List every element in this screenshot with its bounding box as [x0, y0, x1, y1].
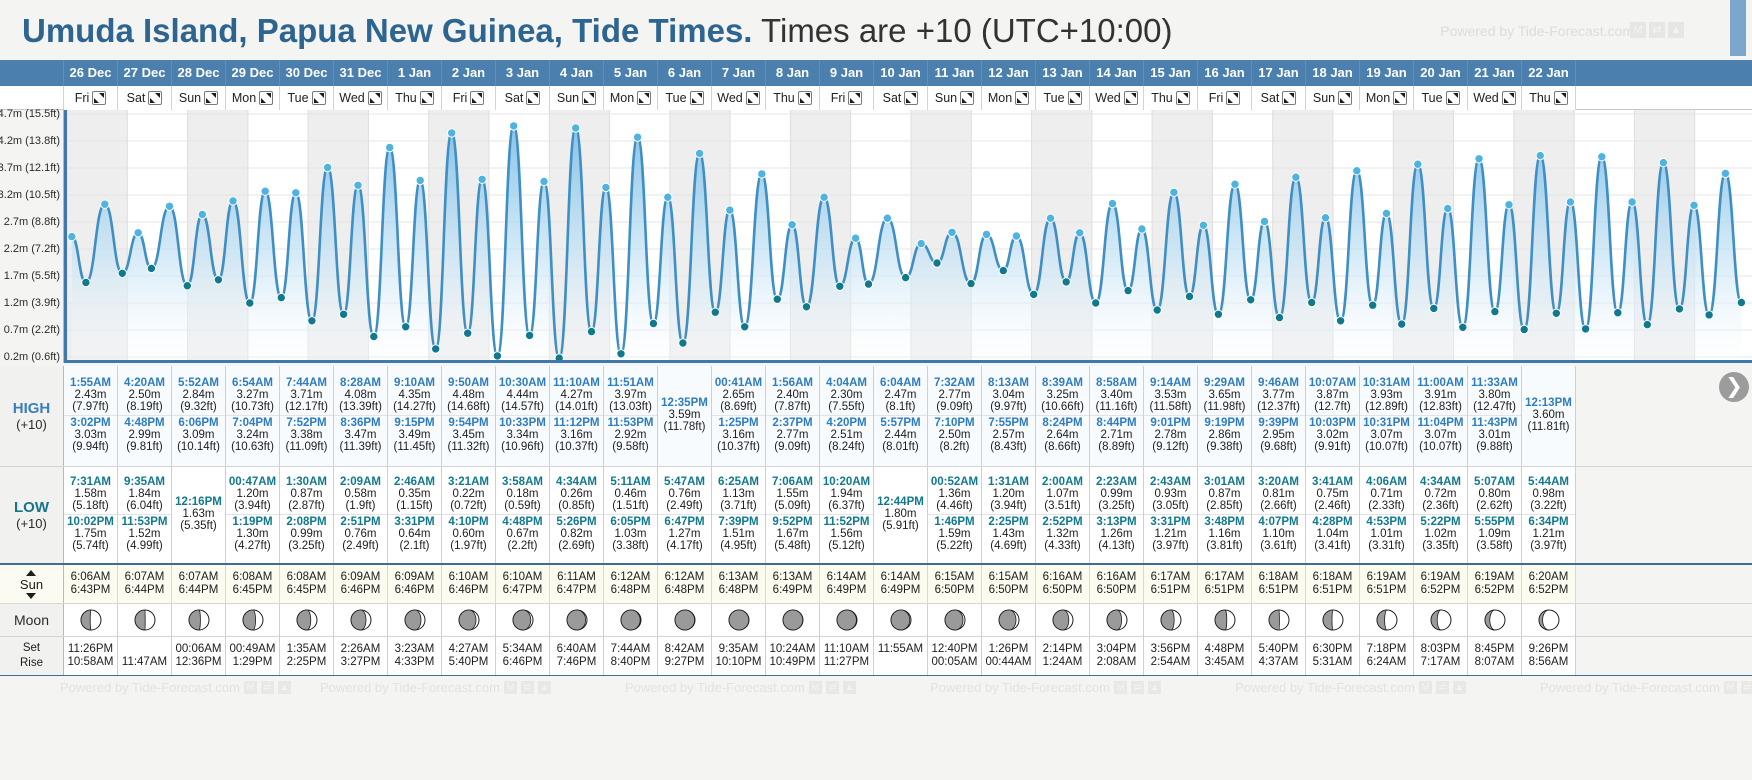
- moon-phase-cell: [1090, 604, 1144, 636]
- date-header-cell[interactable]: 18 Jan: [1306, 60, 1360, 86]
- weekday-cell[interactable]: Sun: [172, 86, 226, 110]
- weekday-cell[interactable]: Sun: [550, 86, 604, 110]
- low-tide-time: 5:07AM: [1468, 476, 1521, 488]
- expand-icon[interactable]: [204, 91, 218, 105]
- high-tide-height-metres: 2.65m: [712, 389, 765, 401]
- high-tide-cell: 9:46AM3.77m(12.37ft)9:39PM2.95m(9.68ft): [1252, 366, 1306, 466]
- low-tide-time: 5:44AM: [1522, 476, 1575, 488]
- weekday-cell[interactable]: Thu: [766, 86, 820, 110]
- high-tide-event: 12:13PM3.60m(11.81ft): [1522, 396, 1575, 435]
- moonrise-time: 10:10PM: [712, 656, 765, 668]
- low-tide-height-metres: 1.10m: [1252, 528, 1305, 540]
- high-tide-time: 7:32AM: [928, 377, 981, 389]
- footer-warning-icon: ▲: [1453, 681, 1466, 694]
- moon-row-label: Moon: [0, 604, 64, 636]
- warning-icon[interactable]: ▲: [1668, 22, 1684, 38]
- date-header-cell[interactable]: 13 Jan: [1036, 60, 1090, 86]
- weekday-label: Fri: [453, 91, 468, 105]
- moon-set-rise-cell: 7:18PM6:24AM: [1360, 637, 1414, 675]
- high-tide-height-metres: 4.35m: [388, 389, 441, 401]
- date-header-cell[interactable]: 7 Jan: [712, 60, 766, 86]
- high-tide-height-metres: 3.40m: [1090, 389, 1143, 401]
- date-header-cell[interactable]: 8 Jan: [766, 60, 820, 86]
- low-tide-event: 7:06AM1.55m(5.09ft): [766, 475, 819, 514]
- expand-icon[interactable]: [1226, 91, 1240, 105]
- weekday-label: Mon: [232, 91, 256, 105]
- high-tide-time: 10:30AM: [496, 377, 549, 389]
- sunrise-time: 6:13AM: [766, 571, 819, 583]
- low-tide-event: 7:31AM1.58m(5.18ft): [64, 475, 117, 514]
- expand-icon[interactable]: [960, 91, 974, 105]
- weekday-cell[interactable]: Fri: [64, 86, 118, 110]
- swap-units-icon[interactable]: ⇄: [1649, 22, 1665, 38]
- metric-icon[interactable]: M: [1630, 22, 1646, 38]
- expand-icon[interactable]: [798, 91, 812, 105]
- footer-metric-icon: M: [504, 681, 517, 694]
- moonrise-time: 12:36PM: [172, 656, 225, 668]
- expand-icon[interactable]: [1124, 91, 1138, 105]
- weekday-cell[interactable]: Sun: [928, 86, 982, 110]
- date-header-cell[interactable]: 14 Jan: [1090, 60, 1144, 86]
- high-tide-height-metres: 2.50m: [118, 389, 171, 401]
- weekday-cell[interactable]: Wed: [1468, 86, 1522, 110]
- high-tide-time: 9:19PM: [1198, 417, 1251, 429]
- weekday-cell[interactable]: Mon: [226, 86, 280, 110]
- high-tide-height-metres: 2.78m: [1144, 429, 1197, 441]
- high-tide-event: 3:02PM3.03m(9.94ft): [64, 415, 117, 455]
- high-tide-time: 11:43PM: [1468, 417, 1521, 429]
- high-tide-cell: 5:52AM2.84m(9.32ft)6:06PM3.09m(10.14ft): [172, 366, 226, 466]
- moon-set-rise-cell: 5:40PM4:37AM: [1252, 637, 1306, 675]
- high-tide-time: 3:02PM: [64, 417, 117, 429]
- high-tide-events: 8:58AM3.40m(11.16ft)8:44PM2.71m(8.89ft): [1090, 369, 1143, 462]
- low-tide-event: 3:13PM1.26m(4.13ft): [1090, 514, 1143, 554]
- moonset-time: 8:42AM: [658, 643, 711, 655]
- moon-phase-cell: [1036, 604, 1090, 636]
- low-tide-events: 7:06AM1.55m(5.09ft)9:52PM1.67m(5.48ft): [766, 470, 819, 559]
- expand-icon[interactable]: [1015, 91, 1029, 105]
- date-header-cell[interactable]: 19 Jan: [1360, 60, 1414, 86]
- weekday-cell[interactable]: Mon: [982, 86, 1036, 110]
- low-tide-time: 1:19PM: [226, 516, 279, 528]
- moon-set-rise-cell: 3:56PM2:54AM: [1144, 637, 1198, 675]
- moonset-label-text: Set: [23, 641, 40, 656]
- weekday-cell[interactable]: Tue: [280, 86, 334, 110]
- low-tide-event: 00:47AM1.20m(3.94ft): [226, 475, 279, 514]
- moon-phase-icon: [458, 609, 480, 631]
- moonrise-time: 6:46PM: [496, 656, 549, 668]
- low-tide-height-metres: 1.32m: [1036, 528, 1089, 540]
- high-tide-height-metres: 3.91m: [1414, 389, 1467, 401]
- high-tide-events: 11:33AM3.80m(12.47ft)11:43PM3.01m(9.88ft…: [1468, 369, 1521, 462]
- low-tide-height-feet: (5.09ft): [766, 500, 819, 512]
- sun-cell: 6:09AM6:46PM: [334, 565, 388, 603]
- weekday-label: Wed: [1095, 91, 1120, 105]
- high-tide-height-metres: 2.95m: [1252, 429, 1305, 441]
- date-header-cell[interactable]: 21 Jan: [1468, 60, 1522, 86]
- low-tide-height-feet: (2.62ft): [1468, 500, 1521, 512]
- date-header-cell[interactable]: 11 Jan: [928, 60, 982, 86]
- low-tide-label-offset: (+10): [16, 516, 47, 531]
- expand-icon[interactable]: [526, 91, 540, 105]
- high-tide-events: 10:30AM4.44m(14.57ft)10:33PM3.34m(10.96f…: [496, 369, 549, 462]
- moonset-time: 3:23AM: [388, 643, 441, 655]
- high-tide-time: 7:10PM: [928, 417, 981, 429]
- weekday-cell[interactable]: Fri: [442, 86, 496, 110]
- date-header-cell[interactable]: 9 Jan: [820, 60, 874, 86]
- high-tide-height-metres: 2.44m: [874, 429, 927, 441]
- footer-swap-icon: ⇄: [1741, 681, 1752, 694]
- sunrise-time: 6:19AM: [1468, 571, 1521, 583]
- weekday-cell[interactable]: Mon: [604, 86, 658, 110]
- moon-set-rise-cell: 11:10AM11:27PM: [820, 637, 874, 675]
- sun-cell: 6:13AM6:48PM: [712, 565, 766, 603]
- date-header-cell[interactable]: 3 Jan: [496, 60, 550, 86]
- footer-warning-icon: ▲: [843, 681, 856, 694]
- sunrise-time: 6:20AM: [1522, 571, 1575, 583]
- low-tide-time: 5:22PM: [1414, 516, 1467, 528]
- weekday-cell[interactable]: Tue: [1414, 86, 1468, 110]
- weekday-cell[interactable]: Thu: [1522, 86, 1576, 110]
- moon-phase-cell: [874, 604, 928, 636]
- moon-phase-cell: [442, 604, 496, 636]
- moon-phase-icon: [1214, 609, 1236, 631]
- chart-plot-area[interactable]: [64, 110, 1752, 363]
- high-tide-height-metres: 3.07m: [1414, 429, 1467, 441]
- high-tide-height-metres: 2.71m: [1090, 429, 1143, 441]
- expand-icon[interactable]: [1338, 91, 1352, 105]
- sun-label-text: Sun: [20, 578, 43, 591]
- high-tide-height-metres: 2.84m: [172, 389, 225, 401]
- moon-phase-icon: [350, 609, 372, 631]
- moon-phase-cell: [550, 604, 604, 636]
- moon-phase-icon: [1322, 609, 1344, 631]
- moon-phase-cell: [1252, 604, 1306, 636]
- low-tide-height-metres: 0.93m: [1144, 488, 1197, 500]
- expand-icon[interactable]: [1446, 91, 1460, 105]
- low-tide-event: 4:34AM0.72m(2.36ft): [1414, 475, 1467, 514]
- y-axis-tick-label: 4.2m (13.8ft): [0, 135, 60, 147]
- high-tide-height-feet: (14.68ft): [442, 401, 495, 413]
- weekday-label: Sun: [1313, 91, 1335, 105]
- date-header-cell[interactable]: 28 Dec: [172, 60, 226, 86]
- expand-icon[interactable]: [148, 91, 162, 105]
- high-tide-time: 9:39PM: [1252, 417, 1305, 429]
- weekday-label: Tue: [1421, 91, 1442, 105]
- expand-icon[interactable]: [746, 91, 760, 105]
- high-tide-events: 8:13AM3.04m(9.97ft)7:55PM2.57m(8.43ft): [982, 369, 1035, 462]
- moonset-time: 1:35AM: [280, 643, 333, 655]
- high-tide-event: 11:33AM3.80m(12.47ft): [1468, 376, 1521, 415]
- low-tide-event: 4:28PM1.04m(3.41ft): [1306, 514, 1359, 554]
- weekday-label: Thu: [773, 91, 795, 105]
- low-tide-height-metres: 0.26m: [550, 488, 603, 500]
- sun-cell: 6:16AM6:50PM: [1090, 565, 1144, 603]
- expand-icon[interactable]: [1068, 91, 1082, 105]
- low-tide-event: 7:39PM1.51m(4.95ft): [712, 514, 765, 554]
- sun-cell: 6:18AM6:51PM: [1306, 565, 1360, 603]
- moon-phase-cell: [1306, 604, 1360, 636]
- high-tide-height-feet: (10.63ft): [226, 441, 279, 453]
- moon-set-rise-cell: 3:04PM2:08AM: [1090, 637, 1144, 675]
- high-tide-height-metres: 3.24m: [226, 429, 279, 441]
- high-tide-event: 9:10AM4.35m(14.27ft): [388, 376, 441, 415]
- high-tide-height-feet: (11.16ft): [1090, 401, 1143, 413]
- high-tide-cell: 12:35PM3.59m(11.78ft): [658, 366, 712, 466]
- low-tide-event: 12:16PM1.63m(5.35ft): [172, 495, 225, 534]
- low-tide-events: 10:20AM1.94m(6.37ft)11:52PM1.56m(5.12ft): [820, 470, 873, 559]
- low-tide-height-metres: 1.04m: [1306, 528, 1359, 540]
- date-header-cell[interactable]: 4 Jan: [550, 60, 604, 86]
- low-tide-cell: 3:01AM0.87m(2.85ft)3:48PM1.16m(3.81ft): [1198, 467, 1252, 563]
- low-tide-height-feet: (2.36ft): [1414, 500, 1467, 512]
- moon-set-rise-cell: 11:26PM10:58AM: [64, 637, 118, 675]
- weekday-label: Sat: [1261, 91, 1280, 105]
- weekday-cell[interactable]: Fri: [1198, 86, 1252, 110]
- high-tide-cell: 11:10AM4.27m(14.01ft)11:12PM3.16m(10.37f…: [550, 366, 604, 466]
- low-tide-cell: 00:52AM1.36m(4.46ft)1:46PM1.59m(5.22ft): [928, 467, 982, 563]
- low-tide-height-feet: (3.97ft): [1522, 540, 1575, 552]
- high-tide-cell: 8:58AM3.40m(11.16ft)8:44PM2.71m(8.89ft): [1090, 366, 1144, 466]
- expand-icon[interactable]: [1393, 91, 1407, 105]
- header-icon-group: M ⇄ ▲: [1630, 22, 1684, 38]
- date-header-cell[interactable]: 27 Dec: [118, 60, 172, 86]
- date-header-cell[interactable]: 1 Jan: [388, 60, 442, 86]
- expand-icon[interactable]: [582, 91, 596, 105]
- high-tide-time: 6:06PM: [172, 417, 225, 429]
- expand-icon[interactable]: [420, 91, 434, 105]
- low-tide-time: 4:07PM: [1252, 516, 1305, 528]
- high-tide-cell: 9:14AM3.53m(11.58ft)9:01PM2.78m(9.12ft): [1144, 366, 1198, 466]
- high-tide-event: 10:07AM3.87m(12.7ft): [1306, 376, 1359, 415]
- high-tide-cell: 9:29AM3.65m(11.98ft)9:19PM2.86m(9.38ft): [1198, 366, 1252, 466]
- weekday-label: Mon: [1366, 91, 1390, 105]
- weekday-label: Mon: [610, 91, 634, 105]
- expand-icon[interactable]: [1282, 91, 1296, 105]
- moon-set-rise-cell: 6:40AM7:46PM: [550, 637, 604, 675]
- moon-set-rise-cell: 00:49AM1:29PM: [226, 637, 280, 675]
- low-tide-time: 2:09AM: [334, 476, 387, 488]
- high-tide-event: 6:06PM3.09m(10.14ft): [172, 415, 225, 455]
- sunrise-time: 6:12AM: [658, 571, 711, 583]
- low-tide-height-feet: (0.59ft): [496, 500, 549, 512]
- expand-icon[interactable]: [690, 91, 704, 105]
- low-tide-height-metres: 1.75m: [64, 528, 117, 540]
- expand-icon[interactable]: [904, 91, 918, 105]
- low-tide-event: 10:20AM1.94m(6.37ft): [820, 475, 873, 514]
- high-tide-row-label: HIGH (+10): [0, 366, 64, 466]
- date-header-cell[interactable]: 6 Jan: [658, 60, 712, 86]
- date-header-cell[interactable]: 22 Jan: [1522, 60, 1576, 86]
- high-tide-height-feet: (7.97ft): [64, 401, 117, 413]
- low-tide-height-feet: (5.35ft): [172, 520, 225, 532]
- moonrise-time: 4:33PM: [388, 656, 441, 668]
- low-tide-events: 2:23AM0.99m(3.25ft)3:13PM1.26m(4.13ft): [1090, 470, 1143, 559]
- sunrise-time: 6:14AM: [874, 571, 927, 583]
- low-tide-event: 4:10PM0.60m(1.97ft): [442, 514, 495, 554]
- high-tide-time: 5:57PM: [874, 417, 927, 429]
- high-tide-height-metres: 2.77m: [766, 429, 819, 441]
- moon-set-rise-cell: 2:14PM1:24AM: [1036, 637, 1090, 675]
- moonrise-time: 10:58AM: [64, 656, 117, 668]
- expand-icon[interactable]: [368, 91, 382, 105]
- weekday-cell[interactable]: Sun: [1306, 86, 1360, 110]
- low-tide-time: 4:34AM: [550, 476, 603, 488]
- weekday-label: Sun: [557, 91, 579, 105]
- moon-set-rise-cell: 5:34AM6:46PM: [496, 637, 550, 675]
- low-tide-height-feet: (3.81ft): [1198, 540, 1251, 552]
- high-tide-height-metres: 4.08m: [334, 389, 387, 401]
- high-tide-cell: 10:31AM3.93m(12.89ft)10:31PM3.07m(10.07f…: [1360, 366, 1414, 466]
- weekday-label: Sat: [127, 91, 146, 105]
- footer-watermark: Powered by Tide-Forecast.comM⇄▲: [320, 680, 551, 695]
- weekday-cell[interactable]: Fri: [820, 86, 874, 110]
- low-tide-event: 1:46PM1.59m(5.22ft): [928, 514, 981, 554]
- low-tide-height-metres: 1.20m: [226, 488, 279, 500]
- next-page-arrow-icon[interactable]: ❯: [1719, 372, 1749, 402]
- low-tide-events: 1:30AM0.87m(2.87ft)2:08PM0.99m(3.25ft): [280, 470, 333, 559]
- low-tide-cell: 12:44PM1.80m(5.91ft): [874, 467, 928, 563]
- high-tide-event: 5:52AM2.84m(9.32ft): [172, 376, 225, 415]
- date-header-cell[interactable]: 10 Jan: [874, 60, 928, 86]
- high-tide-height-metres: 2.57m: [982, 429, 1035, 441]
- expand-icon[interactable]: [848, 91, 862, 105]
- moon-set-rise-cell: 6:30PM5:31AM: [1306, 637, 1360, 675]
- low-tide-height-feet: (2.49ft): [334, 540, 387, 552]
- date-header-cell[interactable]: 16 Jan: [1198, 60, 1252, 86]
- date-header-cell[interactable]: 15 Jan: [1144, 60, 1198, 86]
- high-tide-height-metres: 3.07m: [1360, 429, 1413, 441]
- moonrise-time: 10:49PM: [766, 656, 819, 668]
- high-tide-event: 10:31PM3.07m(10.07ft): [1360, 415, 1413, 455]
- low-tide-time: 2:08PM: [280, 516, 333, 528]
- weekday-cell[interactable]: Sat: [1252, 86, 1306, 110]
- weekday-cell[interactable]: Thu: [1144, 86, 1198, 110]
- expand-icon[interactable]: [259, 91, 273, 105]
- high-tide-time: 2:37PM: [766, 417, 819, 429]
- high-tide-height-feet: (7.55ft): [820, 401, 873, 413]
- moonset-time: 00:49AM: [226, 643, 279, 655]
- high-tide-events: 9:46AM3.77m(12.37ft)9:39PM2.95m(9.68ft): [1252, 369, 1305, 462]
- expand-icon[interactable]: [92, 91, 106, 105]
- weekday-label: Thu: [395, 91, 417, 105]
- high-tide-events: 9:29AM3.65m(11.98ft)9:19PM2.86m(9.38ft): [1198, 369, 1251, 462]
- weekday-cell[interactable]: Wed: [1090, 86, 1144, 110]
- sunrise-time: 6:16AM: [1090, 571, 1143, 583]
- high-tide-event: 8:39AM3.25m(10.66ft): [1036, 376, 1089, 415]
- high-tide-height-metres: 2.40m: [766, 389, 819, 401]
- low-tide-height-feet: (3.94ft): [226, 500, 279, 512]
- date-header-cell[interactable]: 29 Dec: [226, 60, 280, 86]
- moon-set-rise-cell: 4:27AM5:40PM: [442, 637, 496, 675]
- date-header-cell[interactable]: 12 Jan: [982, 60, 1036, 86]
- high-tide-event: 8:13AM3.04m(9.97ft): [982, 376, 1035, 415]
- high-tide-height-metres: 3.04m: [982, 389, 1035, 401]
- sunrise-time: 6:14AM: [820, 571, 873, 583]
- footer-watermark: Powered by Tide-Forecast.comM⇄▲: [1540, 680, 1752, 695]
- date-header-cell[interactable]: 17 Jan: [1252, 60, 1306, 86]
- expand-icon[interactable]: [1554, 91, 1568, 105]
- high-tide-event: 5:57PM2.44m(8.01ft): [874, 415, 927, 455]
- low-tide-height-feet: (4.17ft): [658, 540, 711, 552]
- sunset-time: 6:49PM: [766, 584, 819, 596]
- weekday-cell[interactable]: Wed: [712, 86, 766, 110]
- low-tide-height-feet: (4.27ft): [226, 540, 279, 552]
- expand-icon[interactable]: [637, 91, 651, 105]
- weekday-cell[interactable]: Tue: [658, 86, 712, 110]
- moon-phase-icon: [836, 609, 858, 631]
- moonset-time: 5:40PM: [1252, 643, 1305, 655]
- low-tide-events: 4:06AM0.71m(2.33ft)4:53PM1.01m(3.31ft): [1360, 470, 1413, 559]
- weekday-cell[interactable]: Wed: [334, 86, 388, 110]
- scrollbar-thumb[interactable]: [1730, 0, 1746, 56]
- low-tide-cell: 3:58AM0.18m(0.59ft)4:48PM0.67m(2.2ft): [496, 467, 550, 563]
- low-tide-height-metres: 0.64m: [388, 528, 441, 540]
- low-tide-height-feet: (2.69ft): [550, 540, 603, 552]
- weekday-cell[interactable]: Mon: [1360, 86, 1414, 110]
- high-tide-label-text: HIGH: [13, 400, 51, 417]
- sunrise-time: 6:08AM: [226, 571, 279, 583]
- expand-icon[interactable]: [1502, 91, 1516, 105]
- moon-set-rise-cell: 00:06AM12:36PM: [172, 637, 226, 675]
- moon-phase-cell: [820, 604, 874, 636]
- date-header-cell[interactable]: 30 Dec: [280, 60, 334, 86]
- weekday-cell[interactable]: Sat: [874, 86, 928, 110]
- low-tide-height-feet: (3.41ft): [1306, 540, 1359, 552]
- weekday-cell[interactable]: Tue: [1036, 86, 1090, 110]
- date-header-cell[interactable]: 31 Dec: [334, 60, 388, 86]
- low-tide-height-feet: (1.15ft): [388, 500, 441, 512]
- tide-forecast-page: Umuda Island, Papua New Guinea, Tide Tim…: [0, 0, 1752, 780]
- low-tide-height-feet: (1.9ft): [334, 500, 387, 512]
- moon-set-rise-row-label: Set Rise: [0, 637, 64, 675]
- high-tide-height-metres: 2.86m: [1198, 429, 1251, 441]
- moon-set-rise-row: Set Rise 11:26PM10:58AM 11:47AM00:06AM12…: [0, 637, 1752, 676]
- low-tide-event: 11:53PM1.52m(4.99ft): [118, 514, 171, 554]
- sun-cell: 6:16AM6:50PM: [1036, 565, 1090, 603]
- page-title-timezone: Times are +10 (UTC+10:00): [752, 12, 1172, 49]
- low-tide-height-metres: 0.18m: [496, 488, 549, 500]
- footer-swap-icon: ⇄: [826, 681, 839, 694]
- expand-icon[interactable]: [312, 91, 326, 105]
- low-tide-height-feet: (2.46ft): [1306, 500, 1359, 512]
- weekday-cell[interactable]: Sat: [118, 86, 172, 110]
- weekday-label: Wed: [1473, 91, 1498, 105]
- moonset-time: 6:40AM: [550, 643, 603, 655]
- low-tide-time: 2:52PM: [1036, 516, 1089, 528]
- date-header-cell[interactable]: 5 Jan: [604, 60, 658, 86]
- date-header-cell[interactable]: 26 Dec: [64, 60, 118, 86]
- low-tide-time: 6:25AM: [712, 476, 765, 488]
- expand-icon[interactable]: [470, 91, 484, 105]
- low-tide-time: 3:21AM: [442, 476, 495, 488]
- weekday-cell[interactable]: Thu: [388, 86, 442, 110]
- low-tide-event: 3:58AM0.18m(0.59ft): [496, 475, 549, 514]
- high-tide-height-feet: (8.43ft): [982, 441, 1035, 453]
- date-header-cell[interactable]: 2 Jan: [442, 60, 496, 86]
- page-title-location: Umuda Island, Papua New Guinea, Tide Tim…: [22, 12, 752, 49]
- weekday-cell[interactable]: Sat: [496, 86, 550, 110]
- date-header-cell[interactable]: 20 Jan: [1414, 60, 1468, 86]
- expand-icon[interactable]: [1176, 91, 1190, 105]
- moonset-time: 9:26PM: [1522, 643, 1575, 655]
- high-tide-time: 9:46AM: [1252, 377, 1305, 389]
- moon-phase-cell: [1522, 604, 1576, 636]
- low-tide-event: 3:20AM0.81m(2.66ft): [1252, 475, 1305, 514]
- sunset-time: 6:45PM: [226, 584, 279, 596]
- date-header-row: 26 Dec27 Dec28 Dec29 Dec30 Dec31 Dec1 Ja…: [0, 60, 1752, 86]
- moon-phase-icon: [188, 609, 210, 631]
